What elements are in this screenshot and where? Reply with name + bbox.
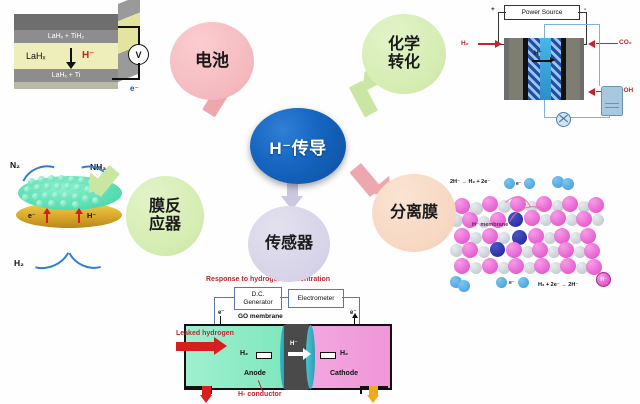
cathode-label: Cathode — [330, 370, 358, 377]
h2-molecule — [562, 178, 574, 190]
center-hub[interactable]: H⁻传导 — [250, 108, 346, 184]
h2-flow-arc-right — [60, 222, 119, 276]
stack-anode-flow — [509, 38, 523, 100]
co2-inlet-label: CO₂ — [619, 39, 632, 46]
recycle-line-return-up — [544, 100, 545, 118]
carrier-arrow-head — [303, 348, 311, 360]
electron-label-bottom: e⁻ — [509, 280, 514, 286]
carrier-arrow-shaft — [288, 352, 304, 356]
h2-inlet-arrow-head — [495, 40, 502, 48]
cell-layer-bottom: LaHₓ + Ti — [14, 69, 118, 82]
wire-plus-h — [498, 12, 506, 13]
carrier-arrow-head — [550, 57, 555, 63]
cell-wire-top-down — [138, 26, 140, 46]
carrier-arrow-head — [66, 62, 76, 69]
sensor-h2-right-label: H₂ — [340, 350, 348, 357]
h2-molecule — [458, 280, 470, 292]
h2-molecule — [504, 178, 515, 189]
recycle-line-right-down — [599, 24, 600, 86]
wire-dc-left — [214, 297, 234, 298]
h2-molecule — [524, 178, 535, 189]
cell-wire-bottom — [112, 78, 140, 80]
ammonia-electron-label: e⁻ — [28, 212, 36, 220]
cell-wire-bottom-down — [138, 63, 140, 79]
co2-arrow-head — [588, 40, 595, 48]
cell-layer-middle-label: LaHₓ — [26, 51, 45, 61]
electrometer-box: Electrometer — [288, 289, 344, 308]
cathode-outlet-arrow-head — [367, 395, 379, 403]
membrane-label: H⁻ membrane — [472, 222, 508, 228]
recycle-line-top — [544, 24, 600, 25]
cell-base-shadow — [14, 82, 118, 89]
cell-stack: LaHₓ + TiH₂ LaHₓ H⁻ LaHₓ + Ti — [14, 14, 118, 88]
node-chemical-label: 化学 转化 — [388, 36, 420, 72]
node-sensor[interactable]: 传感器 — [248, 206, 330, 282]
wire-minus-v — [586, 12, 587, 44]
stack-cathode-flow — [566, 38, 580, 100]
node-chemical-conversion[interactable]: 化学 转化 — [362, 14, 446, 94]
node-battery-label: 电池 — [195, 51, 229, 70]
dc-generator-label: D.C. Generator — [243, 291, 272, 306]
wire-em-right — [342, 297, 360, 298]
power-source-box: Power Source — [504, 5, 580, 20]
cell-electron-label: e⁻ — [130, 84, 139, 93]
carrier-arrow-shaft — [532, 60, 552, 62]
leaked-hydrogen-arrow-shaft — [176, 342, 216, 351]
node-separation-label: 分离膜 — [390, 204, 438, 222]
h2-right-arrow — [320, 352, 336, 359]
leaked-hydrogen-arrow-head — [214, 337, 227, 355]
node-sensor-label: 传感器 — [265, 235, 313, 253]
cell-side-face — [118, 0, 140, 82]
h2-feed-label: H₂ — [14, 258, 24, 268]
cathode-region — [304, 326, 390, 388]
h2-inlet-arrow-shaft — [478, 43, 496, 45]
outlet-arrow-head — [200, 395, 212, 403]
arrow-to-membrane-reactor — [82, 160, 126, 202]
cell-layer-middle: LaHₓ H⁻ — [14, 43, 118, 69]
cell-wire-top — [118, 26, 140, 28]
hydride-ion-legend: H⁻ — [596, 272, 611, 287]
valve-icon — [556, 112, 571, 127]
hcooh-arrow-head — [588, 88, 595, 96]
electrolyser-carrier-label: H⁻ — [534, 49, 542, 57]
h2-inlet-label: H₂ — [461, 40, 469, 47]
stack-catalyst-left — [528, 38, 540, 100]
inset-battery-cell: LaHₓ + TiH₂ LaHₓ H⁻ LaHₓ + Ti V e⁻ — [8, 4, 158, 112]
sensor-h2-left-label: H₂ — [240, 350, 248, 357]
inset-hydrogen-sensor: Response to hydrogen concentration D.C. … — [176, 276, 408, 404]
equation-top: 2H⁻ → H₂ + 2e⁻ — [450, 179, 490, 185]
node-separation-membrane[interactable]: 分离膜 — [372, 174, 456, 252]
h2-left-arrow — [256, 352, 272, 359]
terminal-plus-label: + — [491, 6, 495, 13]
ammonia-carrier-label: H⁻ — [87, 211, 96, 220]
figure-canvas: LaHₓ + TiH₂ LaHₓ H⁻ LaHₓ + Ti V e⁻ Power… — [0, 0, 640, 404]
h-conductor-label: H- conductor — [238, 391, 282, 398]
electron-label: e⁻ — [516, 181, 521, 187]
anode-label: Anode — [244, 370, 266, 377]
inset-molecular-membrane: 2H⁻ → H₂ + 2e⁻ e⁻ — [446, 176, 638, 298]
electron-transport-arrow — [43, 208, 51, 214]
dc-generator-box: D.C. Generator — [234, 287, 282, 310]
sensor-electron-left-label: e⁻ — [218, 309, 225, 316]
recycle-line-tank-h — [568, 117, 610, 118]
stack-catalyst-right — [551, 38, 561, 100]
inset-electrolyser: Power Source + - H⁻ H₂ CO₂ — [458, 2, 638, 126]
cell-layer-top: LaHₓ + TiH₂ — [14, 30, 118, 43]
sensor-carrier-label: H⁻ — [290, 340, 298, 347]
voltmeter-icon: V — [128, 44, 149, 65]
carrier-transport-arrow — [75, 208, 83, 214]
center-hub-label: H⁻传导 — [269, 134, 326, 159]
h2-molecule — [496, 277, 507, 288]
equation-bottom: H₂ + 2e⁻ → 2H⁻ — [538, 282, 578, 288]
wire-dc-to-em — [280, 297, 288, 298]
recycle-line-left-down — [544, 24, 545, 38]
n2-feed-label: N₂ — [10, 160, 20, 170]
electrolyser-stack: H⁻ — [504, 38, 582, 100]
cell-top-face — [14, 14, 118, 30]
h2-molecule — [518, 277, 529, 288]
node-membrane-reactor[interactable]: 膜反 应器 — [126, 176, 204, 256]
node-battery[interactable]: 电池 — [170, 22, 254, 100]
cell-carrier-label: H⁻ — [82, 50, 95, 61]
leaked-hydrogen-label: Leaked hydrogen — [176, 330, 234, 337]
go-membrane-label: GO membrane — [238, 313, 283, 320]
node-membrane-reactor-label: 膜反 应器 — [149, 198, 181, 234]
product-tank-icon — [601, 86, 623, 116]
stack-electrolyte — [540, 38, 551, 100]
stack-plate-right — [580, 38, 584, 100]
